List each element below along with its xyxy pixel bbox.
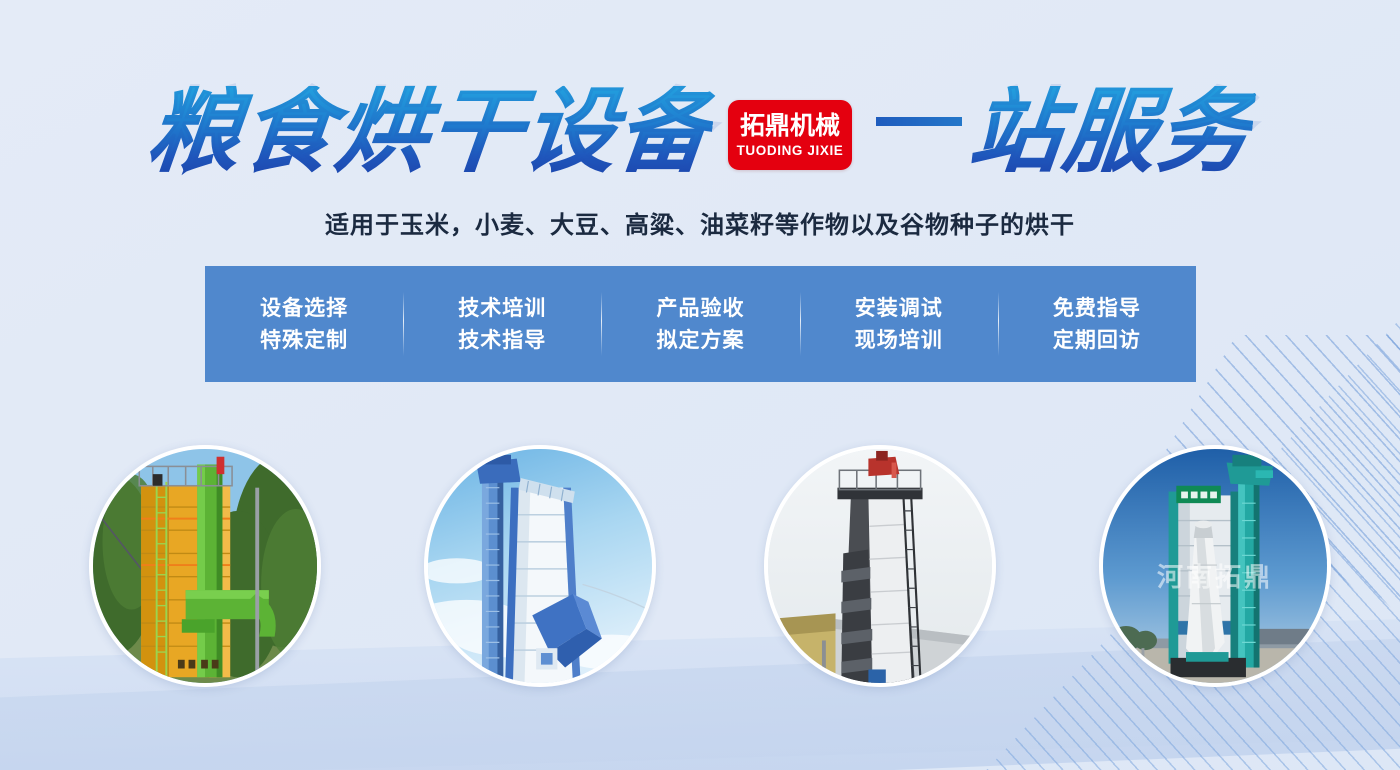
feature-item-1-line1: 设备选择 [260,296,348,320]
feature-item-4-line1: 安装调试 [855,296,943,320]
feature-item-3-line1: 产品验收 [657,296,745,320]
feature-item-2[interactable]: 技术培训 技术指导 [403,266,601,382]
brand-logo: 拓鼎机械 TUODING JIXIE [728,100,852,170]
long-dash-icon [876,117,962,126]
feature-item-1[interactable]: 设备选择 特殊定制 [205,266,403,382]
feature-item-3-line2: 拟定方案 [657,328,745,352]
feature-item-2-line1: 技术培训 [458,296,546,320]
photo-blue-white-grain-dryer-tower[interactable] [424,445,656,687]
feature-item-5-line1: 免费指导 [1053,296,1141,320]
headline: 粮食烘干设备 拓鼎机械 TUODING JIXIE 站服务 [0,72,1400,192]
feature-item-4-line2: 现场培训 [855,328,943,352]
headline-right-text: 站服务 [965,86,1257,178]
feature-item-5-line2: 定期回访 [1053,328,1141,352]
subtitle: 适用于玉米，小麦、大豆、高粱、油菜籽等作物以及谷物种子的烘干 [0,205,1400,240]
feature-bar: 设备选择 特殊定制 技术培训 技术指导 产品验收 拟定方案 安装调试 现场培训 … [205,266,1196,382]
brand-logo-en: TUODING JIXIE [737,144,844,158]
photo-yellow-grain-dryer-tower[interactable] [89,445,321,687]
photo-gallery: 河南拓鼎 [0,445,1400,690]
feature-item-4[interactable]: 安装调试 现场培训 [800,266,998,382]
feature-item-2-line2: 技术指导 [458,328,546,352]
feature-item-1-line2: 特殊定制 [260,328,348,352]
photo-grey-grain-dryer-tower[interactable] [764,445,996,687]
feature-item-3[interactable]: 产品验收 拟定方案 [601,266,799,382]
feature-item-5[interactable]: 免费指导 定期回访 [998,266,1196,382]
brand-logo-cn: 拓鼎机械 [740,113,840,138]
photo-teal-grain-dryer-tower[interactable]: 河南拓鼎 [1099,445,1331,687]
headline-left-text: 粮食烘干设备 [143,86,717,178]
